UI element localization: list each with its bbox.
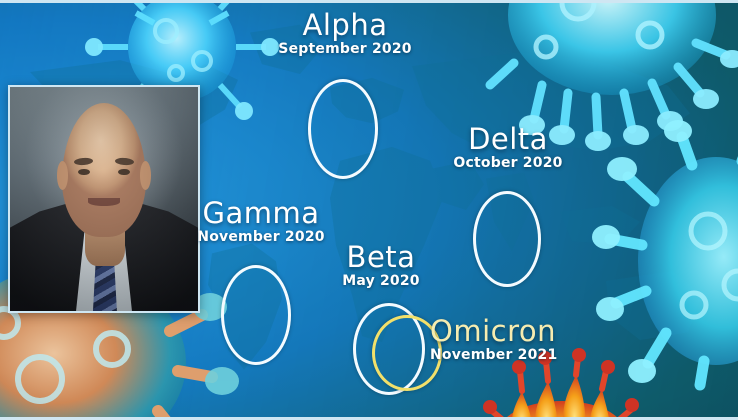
variant-ring-delta — [473, 191, 541, 287]
covid-variants-graphic: Alpha September 2020 Delta October 2020 … — [0, 0, 738, 420]
variant-date-delta: October 2020 — [443, 156, 573, 170]
variant-ring-gamma — [221, 265, 291, 365]
variant-name-delta: Delta — [443, 125, 573, 155]
variant-date-gamma: November 2020 — [186, 230, 336, 244]
variant-ring-alpha — [308, 79, 378, 179]
variant-label-beta: Beta May 2020 — [326, 243, 436, 288]
portrait-shading — [10, 87, 198, 311]
portrait-photo — [8, 85, 200, 313]
variant-label-alpha: Alpha September 2020 — [270, 11, 420, 56]
variant-name-omicron: Omicron — [430, 317, 610, 347]
variant-label-gamma: Gamma November 2020 — [186, 199, 336, 244]
variant-name-gamma: Gamma — [186, 199, 336, 229]
variant-date-omicron: November 2021 — [430, 348, 610, 362]
variant-date-alpha: September 2020 — [270, 42, 420, 56]
variant-label-omicron: Omicron November 2021 — [430, 317, 610, 362]
variant-name-beta: Beta — [326, 243, 436, 273]
variant-label-delta: Delta October 2020 — [443, 125, 573, 170]
variant-name-alpha: Alpha — [270, 11, 420, 41]
variant-date-beta: May 2020 — [326, 274, 436, 288]
